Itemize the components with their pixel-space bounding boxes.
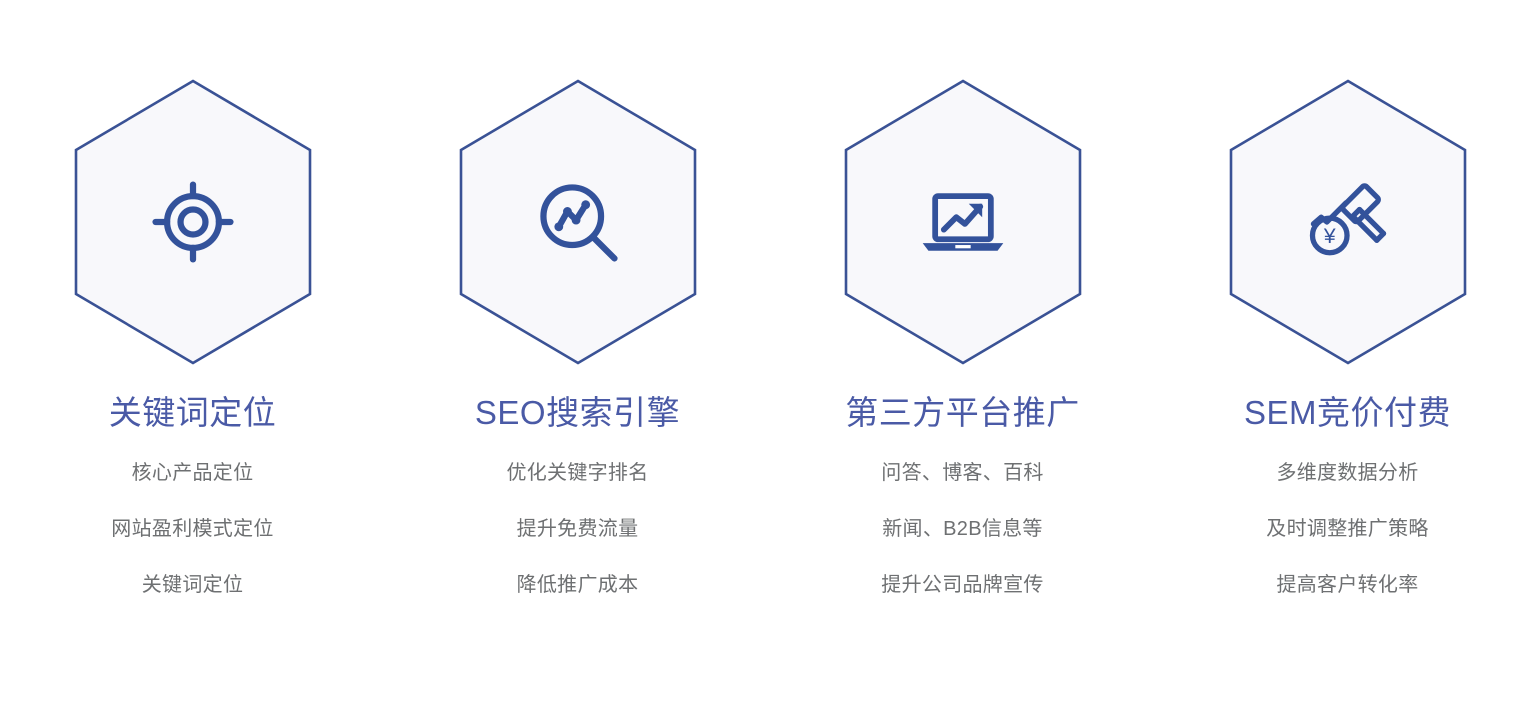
- hexagon-badge: [843, 78, 1083, 366]
- card-line: 新闻、B2B信息等: [882, 519, 1043, 539]
- magnifier-trend-icon: [458, 78, 698, 366]
- feature-card-keyword-positioning[interactable]: 关键词定位 核心产品定位 网站盈利模式定位 关键词定位: [0, 78, 385, 595]
- hexagon-badge: ¥: [1228, 78, 1468, 366]
- card-title: 第三方平台推广: [845, 392, 1080, 433]
- card-line: 提升公司品牌宣传: [881, 575, 1043, 595]
- card-description-list: 优化关键字排名 提升免费流量 降低推广成本: [506, 463, 648, 595]
- feature-card-third-party-promotion[interactable]: 第三方平台推广 问答、博客、百科 新闻、B2B信息等 提升公司品牌宣传: [770, 78, 1155, 595]
- feature-card-sem-paid-bidding[interactable]: ¥ SEM竞价付费 多维度数据分析 及时调整推广策略 提高客户转化率: [1155, 78, 1540, 595]
- hexagon-badge: [458, 78, 698, 366]
- target-crosshair-icon: [73, 78, 313, 366]
- card-line: 提高客户转化率: [1276, 575, 1418, 595]
- card-line: 网站盈利模式定位: [111, 519, 273, 539]
- card-title: SEM竞价付费: [1244, 392, 1451, 433]
- card-line: 多维度数据分析: [1276, 463, 1418, 483]
- feature-card-seo-search-engine[interactable]: SEO搜索引擎 优化关键字排名 提升免费流量 降低推广成本: [385, 78, 770, 595]
- card-line: 核心产品定位: [132, 463, 254, 483]
- gavel-yuan-coin-icon: ¥: [1228, 78, 1468, 366]
- feature-cards-section: 关键词定位 核心产品定位 网站盈利模式定位 关键词定位: [0, 0, 1540, 727]
- card-line: 问答、博客、百科: [881, 463, 1043, 483]
- card-title: SEO搜索引擎: [475, 392, 680, 433]
- card-description-list: 核心产品定位 网站盈利模式定位 关键词定位: [111, 463, 273, 595]
- card-line: 关键词定位: [142, 575, 244, 595]
- card-description-list: 问答、博客、百科 新闻、B2B信息等 提升公司品牌宣传: [881, 463, 1043, 595]
- card-line: 优化关键字排名: [506, 463, 648, 483]
- laptop-growth-chart-icon: [843, 78, 1083, 366]
- svg-text:¥: ¥: [1322, 225, 1335, 248]
- card-description-list: 多维度数据分析 及时调整推广策略 提高客户转化率: [1266, 463, 1428, 595]
- card-title: 关键词定位: [109, 392, 277, 433]
- card-line: 及时调整推广策略: [1266, 519, 1428, 539]
- card-line: 提升免费流量: [517, 519, 639, 539]
- hexagon-badge: [73, 78, 313, 366]
- card-line: 降低推广成本: [517, 575, 639, 595]
